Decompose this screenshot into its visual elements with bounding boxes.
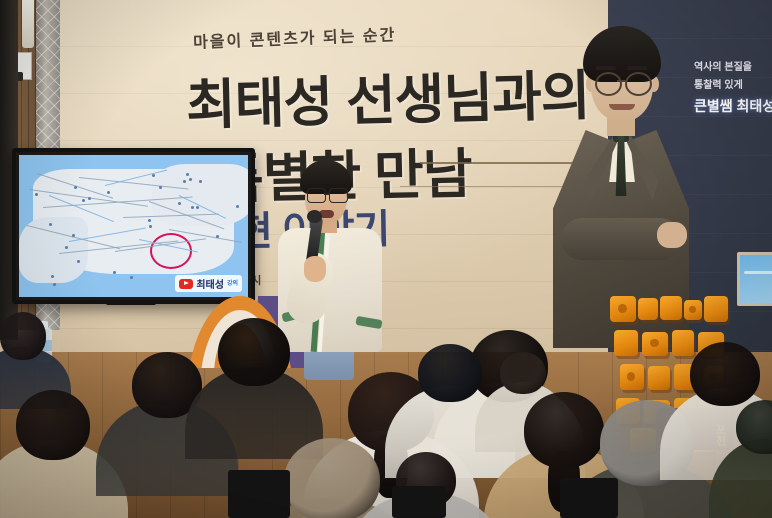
map-city-dot bbox=[199, 180, 202, 183]
chair-back bbox=[560, 478, 618, 518]
map-city-dot bbox=[149, 225, 152, 228]
logo-letter-block bbox=[672, 330, 694, 356]
map-city-dot bbox=[148, 219, 151, 222]
tv-screen: 최태성 강의 bbox=[19, 155, 248, 297]
map-city-dot bbox=[186, 173, 189, 176]
portrait-hair bbox=[583, 26, 661, 82]
watermark-tag: 강의 bbox=[227, 281, 238, 287]
secondary-display bbox=[737, 252, 772, 306]
portrait-smile bbox=[609, 104, 635, 110]
audience-head bbox=[284, 438, 380, 518]
logo-letter-block bbox=[704, 296, 728, 322]
watermark-channel-name: 최태성 bbox=[196, 276, 224, 291]
portrait-glasses-bridge bbox=[617, 80, 626, 82]
audience-head bbox=[524, 392, 604, 468]
map-city-dot bbox=[216, 235, 219, 238]
portrait-eyebrow-left bbox=[596, 66, 616, 70]
audience-head bbox=[418, 344, 482, 402]
map-city-dot bbox=[53, 283, 56, 286]
map-city-dot bbox=[191, 206, 194, 209]
map-landmass-north bbox=[152, 164, 248, 226]
logo-letter-hole bbox=[650, 339, 659, 347]
audience-head bbox=[690, 342, 760, 406]
map-city-dot bbox=[152, 174, 155, 177]
map-city-dot bbox=[74, 186, 77, 189]
logo-letter-hole bbox=[689, 306, 695, 313]
audience-head bbox=[0, 312, 46, 360]
map-city-dot bbox=[35, 193, 38, 196]
logo-letter-block bbox=[660, 296, 682, 320]
portrait-glasses-right-lens bbox=[625, 72, 652, 96]
logo-letter-block bbox=[614, 330, 638, 356]
logo-letter-block bbox=[638, 298, 658, 320]
microphone-head-icon bbox=[307, 210, 322, 223]
portrait-eyebrow-right bbox=[627, 66, 647, 70]
logo-letter-hole bbox=[627, 372, 635, 381]
portrait-hand bbox=[657, 222, 687, 248]
map-city-dot bbox=[113, 271, 116, 274]
map-city-dot bbox=[49, 223, 52, 226]
photo-scene: 마을이 콘텐츠가 되는 순간 최태성 선생님과의 특별한 만남 현 이야기 포천… bbox=[0, 0, 772, 518]
speaker-hand bbox=[304, 256, 326, 282]
navy-text-line1: 역사의 본질을 bbox=[694, 58, 752, 73]
speaker-glasses-bridge bbox=[324, 193, 330, 195]
logo-letter-hole bbox=[618, 304, 627, 313]
navy-text-line2: 통찰력 있게 bbox=[694, 76, 743, 91]
portrait-glasses-left-lens bbox=[595, 72, 622, 96]
youtube-icon bbox=[179, 279, 193, 289]
chair-back bbox=[392, 486, 446, 518]
navy-text-line3: 큰별쌤 최태성 bbox=[694, 96, 772, 116]
map-city-dot bbox=[51, 275, 54, 278]
logo-letter-block bbox=[648, 366, 670, 390]
chair-back bbox=[228, 470, 290, 518]
speaker-person bbox=[272, 160, 390, 378]
strip-light bbox=[22, 0, 34, 48]
map-city-dot bbox=[189, 178, 192, 181]
audience-head bbox=[218, 318, 290, 386]
presentation-tv: 최태성 강의 bbox=[12, 148, 255, 304]
youtube-watermark: 최태성 강의 bbox=[175, 275, 242, 292]
map-city-dot bbox=[159, 186, 162, 189]
speaker-glasses-left-lens bbox=[307, 188, 326, 203]
audience-head bbox=[500, 352, 546, 394]
audience-head bbox=[16, 390, 90, 460]
banner-headline-line1: 최태성 선생님과의 bbox=[185, 51, 590, 140]
speaker-glasses-right-lens bbox=[329, 188, 348, 203]
map-highlight-circle bbox=[150, 233, 192, 269]
